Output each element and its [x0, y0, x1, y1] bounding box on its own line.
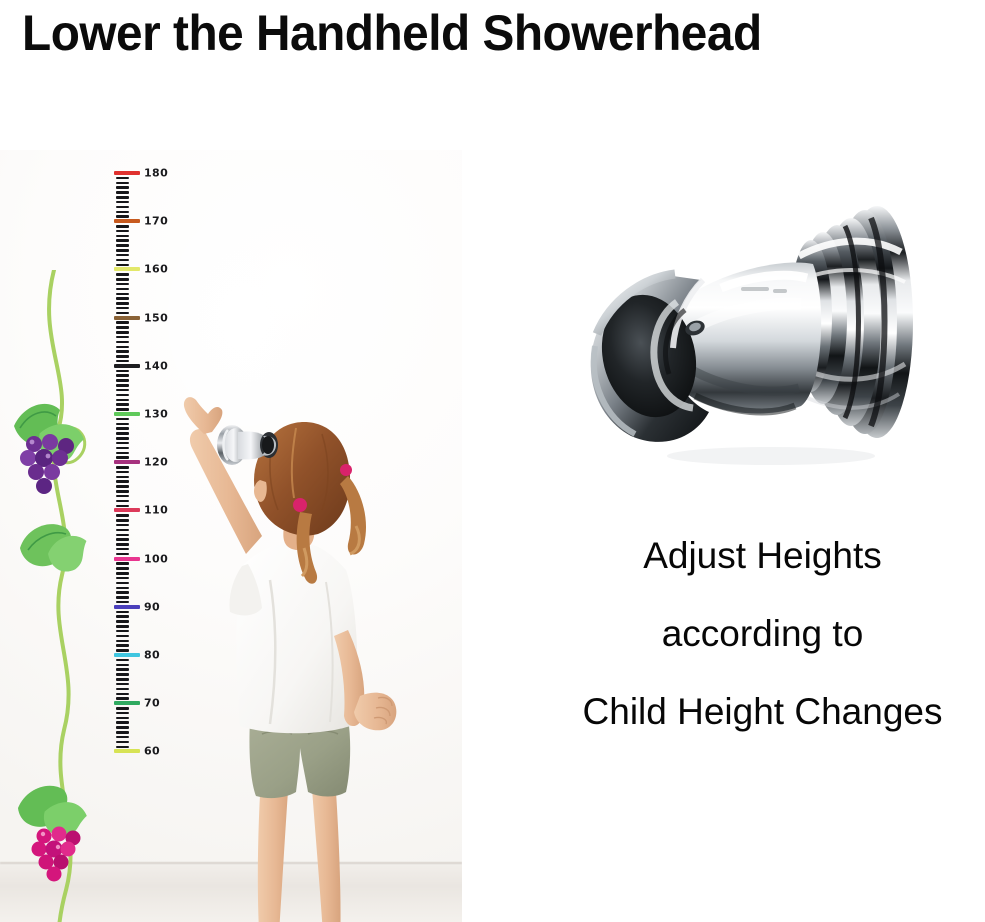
ruler-minor-tick — [116, 697, 129, 700]
hair-tie — [293, 498, 307, 512]
ruler-minor-tick — [116, 591, 129, 594]
ruler-major-tick — [114, 316, 140, 320]
ruler-minor-tick — [116, 423, 129, 426]
ruler-minor-tick — [116, 341, 129, 344]
ruler-minor-tick — [116, 249, 129, 252]
ruler-major-tick — [114, 701, 140, 705]
ruler-minor-tick — [116, 471, 129, 474]
ruler-major-tick — [114, 653, 140, 657]
ruler-minor-tick — [116, 731, 129, 734]
ruler-minor-tick — [116, 331, 129, 334]
ruler-minor-tick — [116, 399, 129, 402]
ruler-minor-tick — [116, 717, 129, 720]
ruler-minor-tick — [116, 394, 129, 397]
ruler-major-tick — [114, 508, 140, 512]
ruler-minor-tick — [116, 177, 129, 180]
ruler-minor-tick — [116, 302, 129, 305]
ruler-minor-tick — [116, 196, 129, 199]
ruler-minor-tick — [116, 447, 129, 450]
ruler-minor-tick — [116, 480, 129, 483]
ruler-minor-tick — [116, 635, 129, 638]
ruler-minor-tick — [116, 432, 129, 435]
ruler-minor-tick — [116, 336, 129, 339]
ruler-minor-tick — [116, 437, 129, 440]
ruler-minor-tick — [116, 596, 129, 599]
ruler-label: 150 — [144, 311, 168, 324]
ruler-major-tick — [114, 364, 140, 368]
ruler-major-tick — [114, 749, 140, 753]
ruler-minor-tick — [116, 235, 129, 238]
ruler-minor-tick — [116, 673, 129, 676]
ruler-minor-tick — [116, 726, 129, 729]
ruler-minor-tick — [116, 514, 129, 517]
ruler-minor-tick — [116, 403, 129, 406]
ruler-minor-tick — [116, 649, 129, 652]
ruler-minor-tick — [116, 259, 129, 262]
hair-tie — [340, 464, 352, 476]
ruler-minor-tick — [116, 688, 129, 691]
ruler-minor-tick — [116, 321, 129, 324]
ruler-minor-tick — [116, 466, 129, 469]
ruler-minor-tick — [116, 350, 129, 353]
holder-cradle — [589, 274, 709, 442]
caption-line-3: Child Height Changes — [545, 690, 980, 734]
ruler-major-tick — [114, 171, 140, 175]
ruler-minor-tick — [116, 379, 129, 382]
ruler-minor-tick — [116, 485, 129, 488]
ruler-minor-tick — [116, 230, 129, 233]
ruler-minor-tick — [116, 452, 129, 455]
ruler-minor-tick — [116, 456, 129, 459]
ruler-minor-tick — [116, 384, 129, 387]
ruler-minor-tick — [116, 355, 129, 358]
ruler-minor-tick — [116, 476, 129, 479]
ruler-minor-tick — [116, 264, 129, 267]
wall-mounted-shower-bracket — [214, 416, 284, 474]
ruler-minor-tick — [116, 500, 129, 503]
ruler-minor-tick — [116, 206, 129, 209]
ruler-minor-tick — [116, 211, 129, 214]
ruler-minor-tick — [116, 297, 129, 300]
ruler-minor-tick — [116, 505, 129, 508]
ruler-minor-tick — [116, 678, 129, 681]
ruler-minor-tick — [116, 572, 129, 575]
ruler-minor-tick — [116, 288, 129, 291]
ruler-minor-tick — [116, 283, 129, 286]
ruler-minor-tick — [116, 346, 129, 349]
ruler-minor-tick — [116, 712, 129, 715]
ruler-minor-tick — [116, 587, 129, 590]
ruler-minor-tick — [116, 312, 129, 315]
ruler-minor-tick — [116, 374, 129, 377]
ruler-minor-tick — [116, 215, 129, 218]
ruler-minor-tick — [116, 693, 129, 696]
ruler-minor-tick — [116, 326, 129, 329]
ruler-minor-tick — [116, 293, 129, 296]
grape-cluster — [32, 827, 81, 882]
ruler-minor-tick — [116, 721, 129, 724]
ruler-minor-tick — [116, 543, 129, 546]
ruler-minor-tick — [116, 567, 129, 570]
ruler-minor-tick — [116, 538, 129, 541]
ruler-minor-tick — [116, 620, 129, 623]
ruler-label: 180 — [144, 167, 168, 180]
ruler-minor-tick — [116, 611, 129, 614]
child-figure — [150, 330, 450, 922]
ruler-minor-tick — [116, 625, 129, 628]
ruler-minor-tick — [116, 427, 129, 430]
ruler-minor-tick — [116, 278, 129, 281]
ruler-minor-tick — [116, 668, 129, 671]
ruler-major-tick — [114, 460, 140, 464]
ruler-minor-tick — [116, 182, 129, 185]
ruler-minor-tick — [116, 408, 129, 411]
ruler-minor-tick — [116, 582, 129, 585]
ruler-minor-tick — [116, 186, 129, 189]
ruler-minor-tick — [116, 529, 129, 532]
ruler-label: 160 — [144, 263, 168, 276]
ruler-minor-tick — [116, 191, 129, 194]
ruler-minor-tick — [116, 519, 129, 522]
ruler-minor-tick — [116, 746, 129, 749]
ruler-minor-tick — [116, 577, 129, 580]
ruler-minor-tick — [116, 244, 129, 247]
ruler-major-tick — [114, 557, 140, 561]
ruler-minor-tick — [116, 524, 129, 527]
ruler-label: 170 — [144, 215, 168, 228]
grape-vine-decoration — [0, 270, 106, 922]
ruler-major-tick — [114, 412, 140, 416]
caption-line-2: according to — [545, 612, 980, 656]
handheld-showerhead-holder-photo — [545, 150, 975, 495]
lifestyle-photo: 18017016015014013012011010090807060 — [0, 150, 462, 922]
ruler-minor-tick — [116, 659, 129, 662]
ruler-minor-tick — [116, 553, 129, 556]
ruler-minor-tick — [116, 239, 129, 242]
caption-line-1: Adjust Heights — [545, 534, 980, 578]
ruler-minor-tick — [116, 640, 129, 643]
ruler-minor-tick — [116, 418, 129, 421]
ruler-minor-tick — [116, 615, 129, 618]
page-title: Lower the Handheld Showerhead — [22, 4, 920, 66]
ruler-minor-tick — [116, 562, 129, 565]
ruler-minor-tick — [116, 273, 129, 276]
ruler-minor-tick — [116, 225, 129, 228]
ruler-minor-tick — [116, 664, 129, 667]
ruler-minor-tick — [116, 644, 129, 647]
ruler-minor-tick — [116, 370, 129, 373]
ruler-minor-tick — [116, 534, 129, 537]
ruler-minor-tick — [116, 741, 129, 744]
ruler-minor-tick — [116, 490, 129, 493]
ruler-minor-tick — [116, 707, 129, 710]
ruler-major-tick — [114, 605, 140, 609]
ruler-major-tick — [114, 219, 140, 223]
ruler-major-tick — [114, 267, 140, 271]
product-marketing-image: Lower the Handheld Showerhead — [0, 0, 985, 922]
